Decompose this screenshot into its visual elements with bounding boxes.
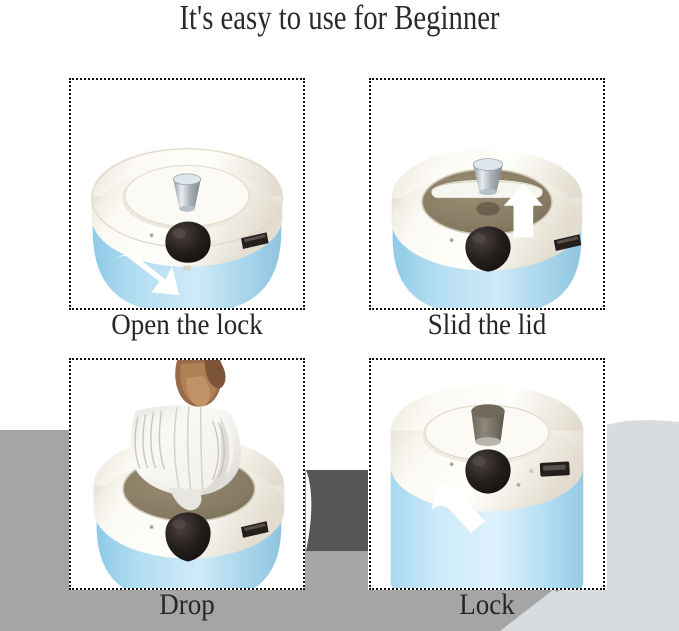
caption-step-4: Lock [381,588,593,622]
infographic-root: It's easy to use for Beginner [0,0,679,631]
caption-step-1: Open the lock [81,308,293,342]
caption-step-2: Slid the lid [381,308,593,342]
caption-step-3: Drop [81,588,293,622]
pail-illustration-step1 [71,80,303,308]
hand-graphic [175,360,225,407]
pail-illustration-step2 [371,80,603,308]
pail-illustration-step3 [71,360,303,588]
page-title: It's easy to use for Beginner [61,0,618,38]
step-panel-2 [369,78,605,310]
step-panel-1 [69,78,305,310]
step-panel-3 [69,358,305,590]
step-panel-4 [369,358,605,590]
pail-illustration-step4 [371,360,603,588]
